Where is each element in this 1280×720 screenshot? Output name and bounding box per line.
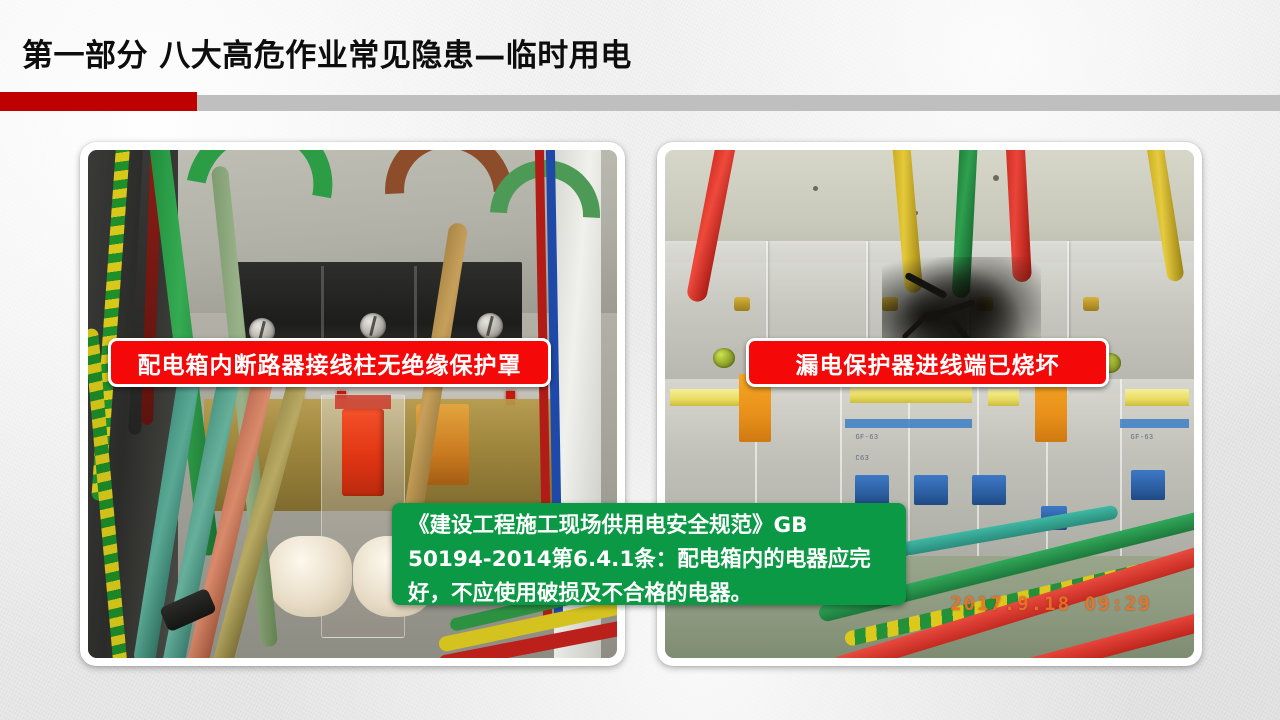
breaker-lever [972, 475, 1006, 505]
breaker-label-strip [335, 395, 391, 410]
breaker-label-strip [1125, 389, 1188, 406]
breaker-label-strip [670, 389, 739, 406]
callout-label-right: 漏电保护器进线端已烧坏 [746, 338, 1109, 387]
page-title: 第一部分 八大高危作业常见隐患—临时用电 [22, 30, 632, 75]
breaker-lever [914, 475, 948, 505]
photo-timestamp: 2017.9.18 09:29 [950, 593, 1152, 615]
breaker-model-text: C63 [855, 455, 869, 463]
regulation-line: 好，不应使用破损及不合格的电器。 [408, 577, 892, 611]
breaker-model-text: GF-63 [1131, 434, 1154, 442]
terminal-screw [360, 313, 386, 339]
breaker-label-strip [988, 389, 1020, 406]
regulation-note: 《建设工程施工现场供用电安全规范》GB 50194-2014第6.4.1条：配电… [392, 503, 906, 605]
header-rule-red [0, 92, 197, 111]
breaker-blue-band [1120, 419, 1189, 428]
breaker-toggle-red [342, 409, 383, 496]
earth-screw [713, 348, 735, 368]
brass-terminal [734, 297, 750, 311]
breaker-lever [1131, 470, 1165, 500]
breaker-model-text: GF-63 [855, 434, 878, 442]
porcelain-insulator [268, 536, 353, 617]
breaker-label-strip [850, 386, 972, 403]
terminal-screw [477, 313, 503, 339]
slide-canvas: 第一部分 八大高危作业常见隐患—临时用电 [0, 0, 1280, 720]
regulation-line: 50194-2014第6.4.1条：配电箱内的电器应完 [408, 543, 892, 577]
breaker-blue-band [845, 419, 972, 428]
breaker-lever [855, 475, 889, 505]
regulation-line: 《建设工程施工现场供用电安全规范》GB [408, 509, 892, 543]
brass-terminal [1083, 297, 1099, 311]
callout-label-left: 配电箱内断路器接线柱无绝缘保护罩 [108, 338, 551, 387]
dirt-speck [813, 186, 818, 191]
